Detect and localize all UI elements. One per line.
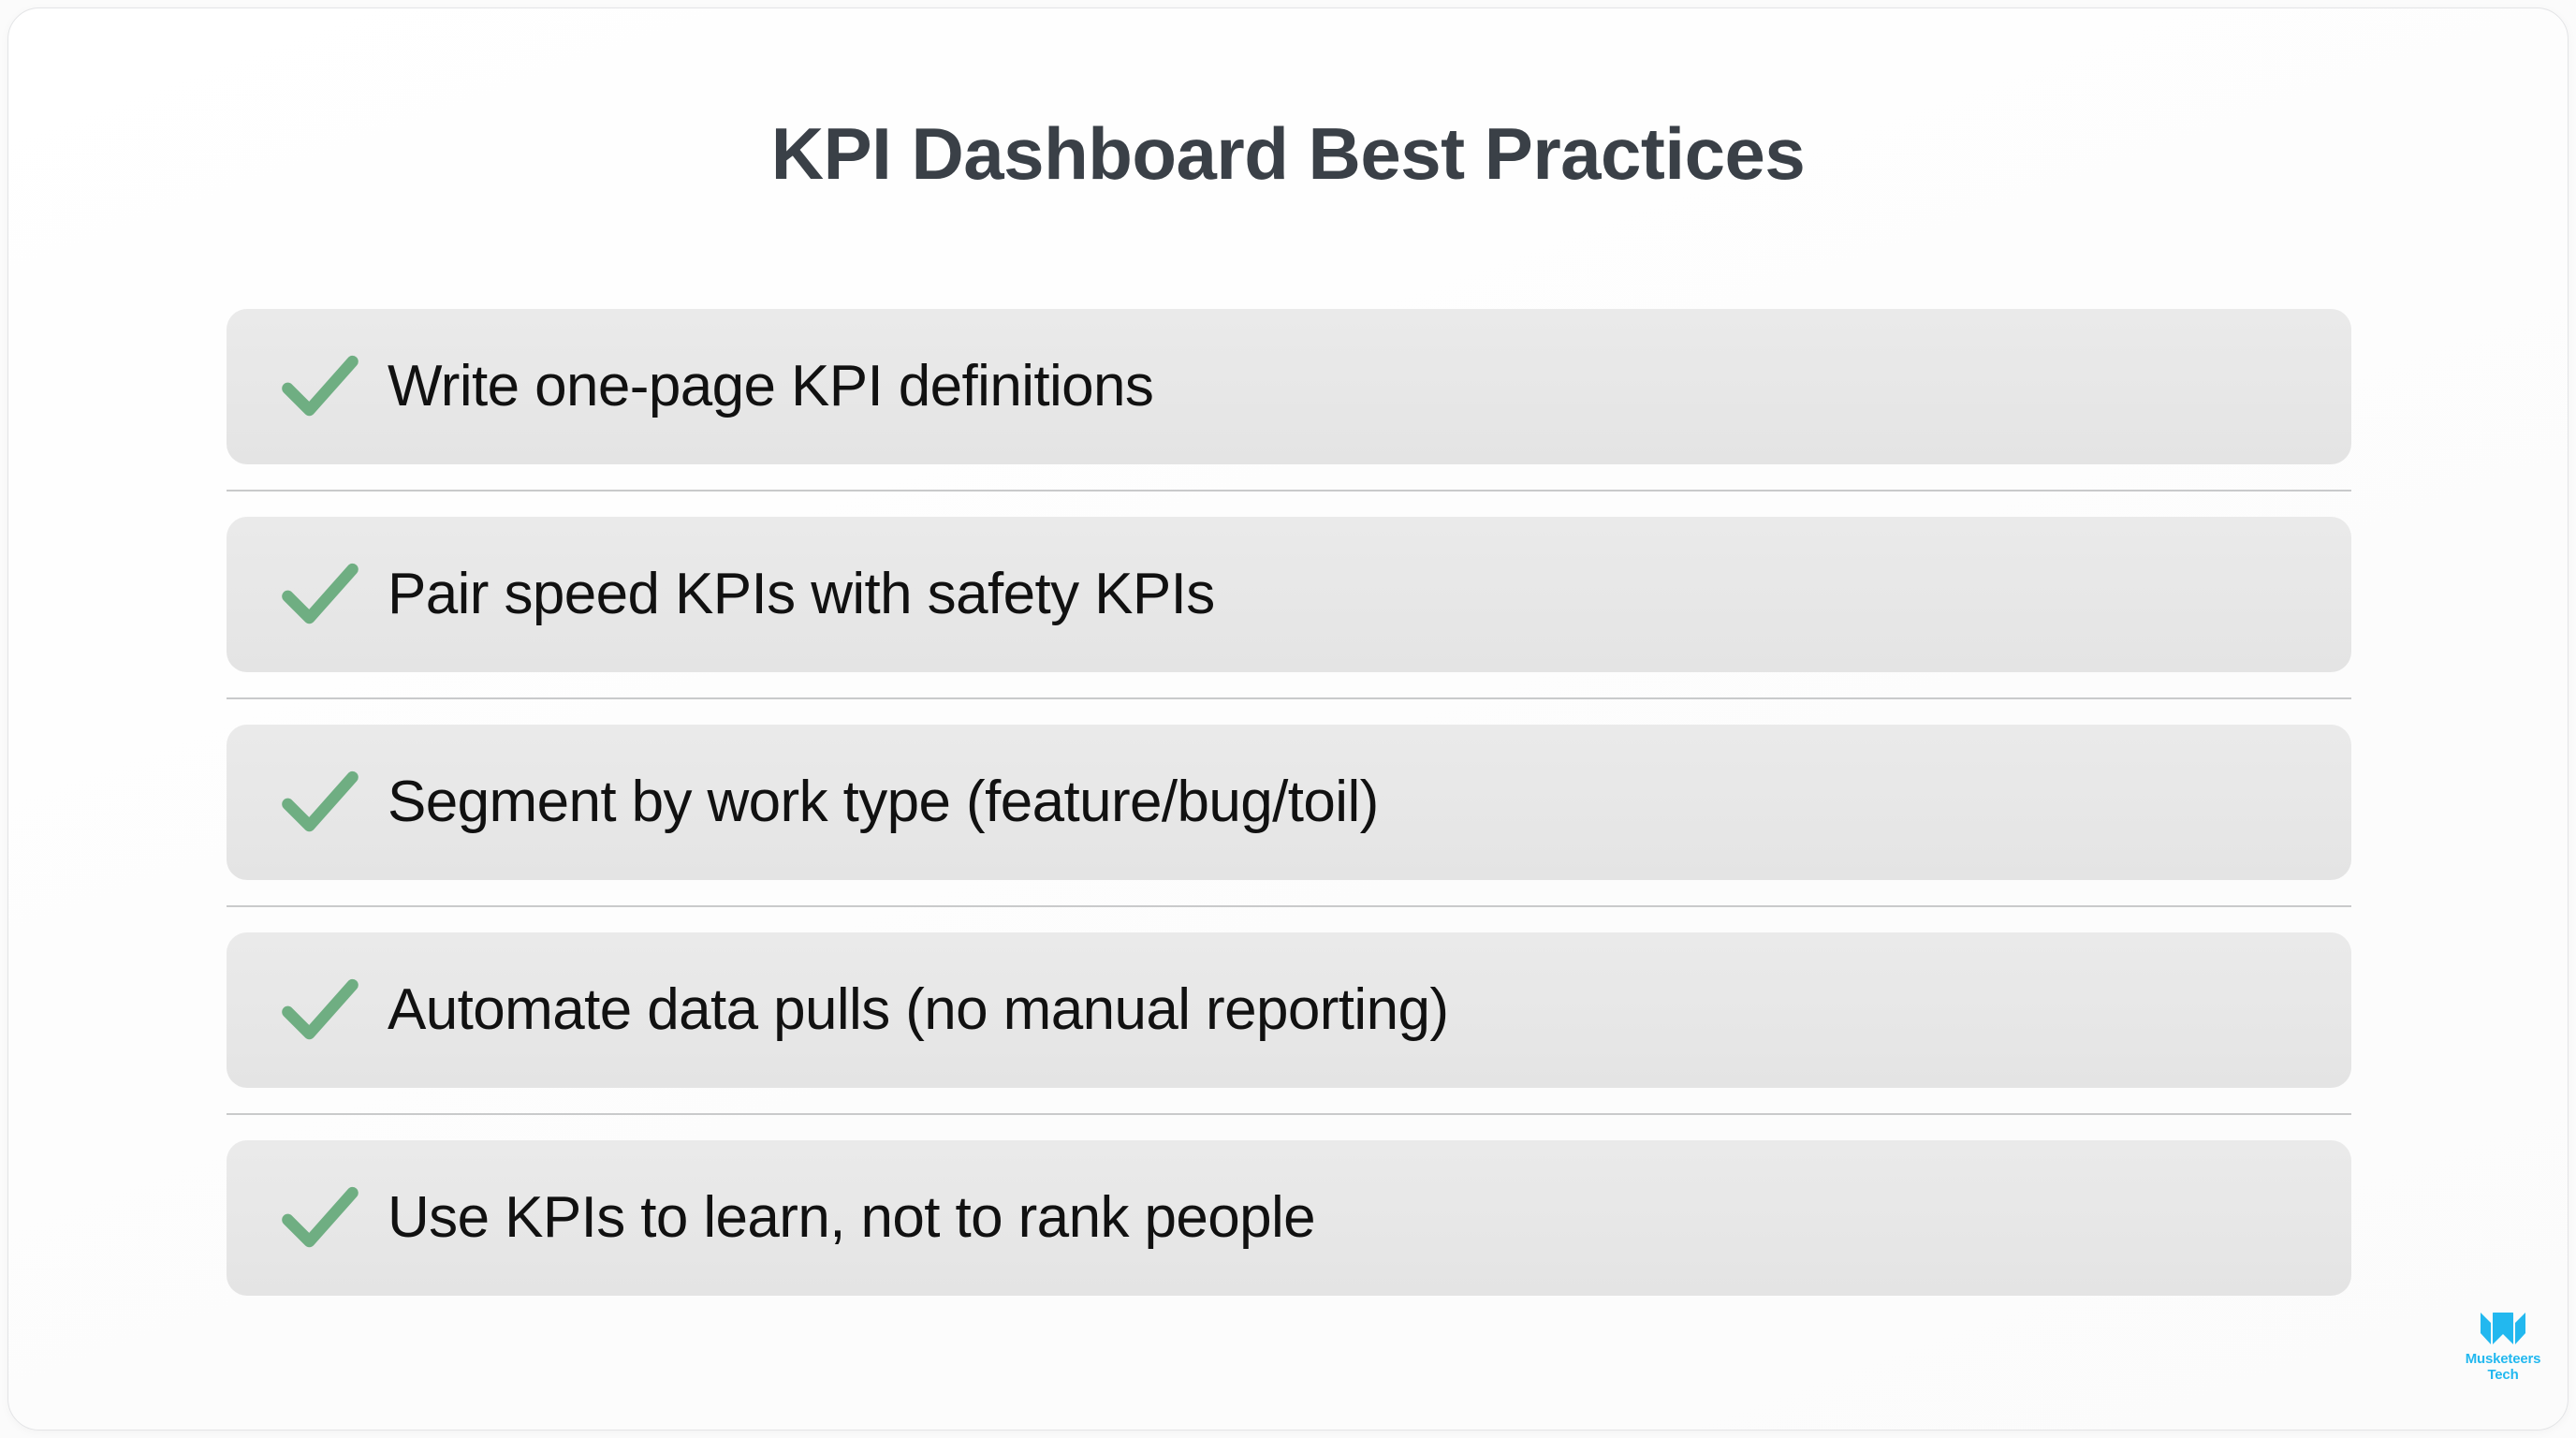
- check-icon: [275, 757, 365, 847]
- list-item[interactable]: Write one-page KPI definitions: [227, 309, 2351, 464]
- list-item[interactable]: Segment by work type (feature/bug/toil): [227, 725, 2351, 880]
- slide-canvas: KPI Dashboard Best Practices Write one-p…: [0, 0, 2576, 1438]
- brand-logo-text: Musketeers Tech: [2447, 1352, 2559, 1384]
- list-divider: [227, 697, 2351, 699]
- list-item-label: Write one-page KPI definitions: [388, 356, 1153, 418]
- list-item-wrapper: Write one-page KPI definitions: [227, 309, 2351, 464]
- check-icon: [275, 965, 365, 1055]
- page-title: KPI Dashboard Best Practices: [0, 117, 2576, 190]
- check-icon: [275, 342, 365, 432]
- brand-logo: Musketeers Tech: [2447, 1311, 2559, 1384]
- list-item-label: Automate data pulls (no manual reporting…: [388, 979, 1448, 1042]
- list-item-wrapper: Pair speed KPIs with safety KPIs: [227, 517, 2351, 672]
- brand-logo-line1: Musketeers: [2466, 1351, 2541, 1367]
- list-item-wrapper: Use KPIs to learn, not to rank people: [227, 1140, 2351, 1296]
- check-icon: [275, 550, 365, 639]
- list-item-wrapper: Automate data pulls (no manual reporting…: [227, 932, 2351, 1088]
- musketeers-m-icon: [2479, 1311, 2527, 1346]
- list-item[interactable]: Automate data pulls (no manual reporting…: [227, 932, 2351, 1088]
- best-practices-list: Write one-page KPI definitions Pair spee…: [227, 309, 2351, 1296]
- list-item[interactable]: Use KPIs to learn, not to rank people: [227, 1140, 2351, 1296]
- list-item-label: Segment by work type (feature/bug/toil): [388, 771, 1379, 834]
- check-icon: [275, 1173, 365, 1263]
- list-item-wrapper: Segment by work type (feature/bug/toil): [227, 725, 2351, 880]
- list-divider: [227, 490, 2351, 492]
- list-divider: [227, 905, 2351, 907]
- brand-logo-line2: Tech: [2447, 1368, 2559, 1384]
- list-item[interactable]: Pair speed KPIs with safety KPIs: [227, 517, 2351, 672]
- list-item-label: Pair speed KPIs with safety KPIs: [388, 564, 1215, 626]
- list-divider: [227, 1113, 2351, 1115]
- list-item-label: Use KPIs to learn, not to rank people: [388, 1187, 1315, 1250]
